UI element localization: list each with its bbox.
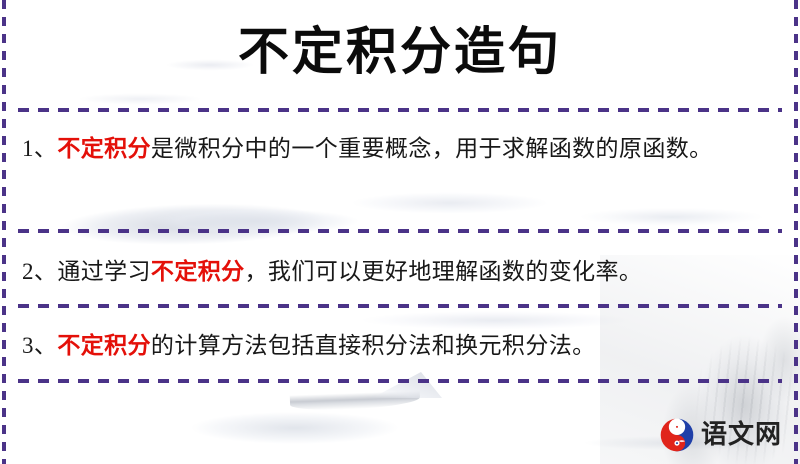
keyword-highlight-3: 不定积分	[57, 333, 151, 358]
sentence-post-2: ，我们可以更好地理解函数的变化率。	[245, 259, 643, 284]
watermark-mountain-left	[29, 171, 371, 250]
dashed-divider-3	[18, 304, 782, 308]
dashed-border-left	[2, 0, 6, 464]
sentence-number-3: 3、	[22, 333, 57, 358]
watermark-mountain-left-2	[120, 196, 390, 242]
watermark-water	[150, 392, 440, 450]
page-title: 不定积分造句	[0, 21, 800, 83]
dashed-divider-4	[18, 379, 782, 383]
sentence-post-1: 是微积分中的一个重要概念，用于求解函数的原函数。	[151, 136, 713, 161]
watermark-cloud-under-title	[60, 88, 220, 110]
sentence-item-3: 3、不定积分的计算方法包括直接积分法和换元积分法。	[22, 325, 778, 366]
dashed-border-right	[794, 0, 798, 464]
keyword-highlight-2: 不定积分	[151, 259, 245, 284]
poster-page: 不定积分造句 1、不定积分是微积分中的一个重要概念，用于求解函数的原函数。 2、…	[0, 0, 800, 464]
sentence-item-1: 1、不定积分是微积分中的一个重要概念，用于求解函数的原函数。	[22, 128, 778, 169]
watermark-boat-sail	[372, 372, 442, 398]
watermark-boat-hull	[290, 391, 420, 412]
sentence-number-2: 2、	[22, 259, 57, 284]
site-logo-text: 语文网	[701, 422, 782, 448]
site-logo[interactable]: 语文网	[660, 418, 782, 452]
watermark-cloud-middle	[350, 182, 600, 224]
sentence-post-3: 的计算方法包括直接积分法和换元积分法。	[151, 333, 596, 358]
sentence-number-1: 1、	[22, 136, 57, 161]
keyword-highlight-1: 不定积分	[57, 136, 151, 161]
sentence-item-2: 2、通过学习不定积分，我们可以更好地理解函数的变化率。	[22, 251, 778, 292]
dashed-divider-2	[18, 229, 782, 233]
sentence-pre-2: 通过学习	[57, 259, 151, 284]
yinyang-fish-logo-icon	[660, 418, 694, 452]
dashed-divider-1	[18, 108, 782, 112]
